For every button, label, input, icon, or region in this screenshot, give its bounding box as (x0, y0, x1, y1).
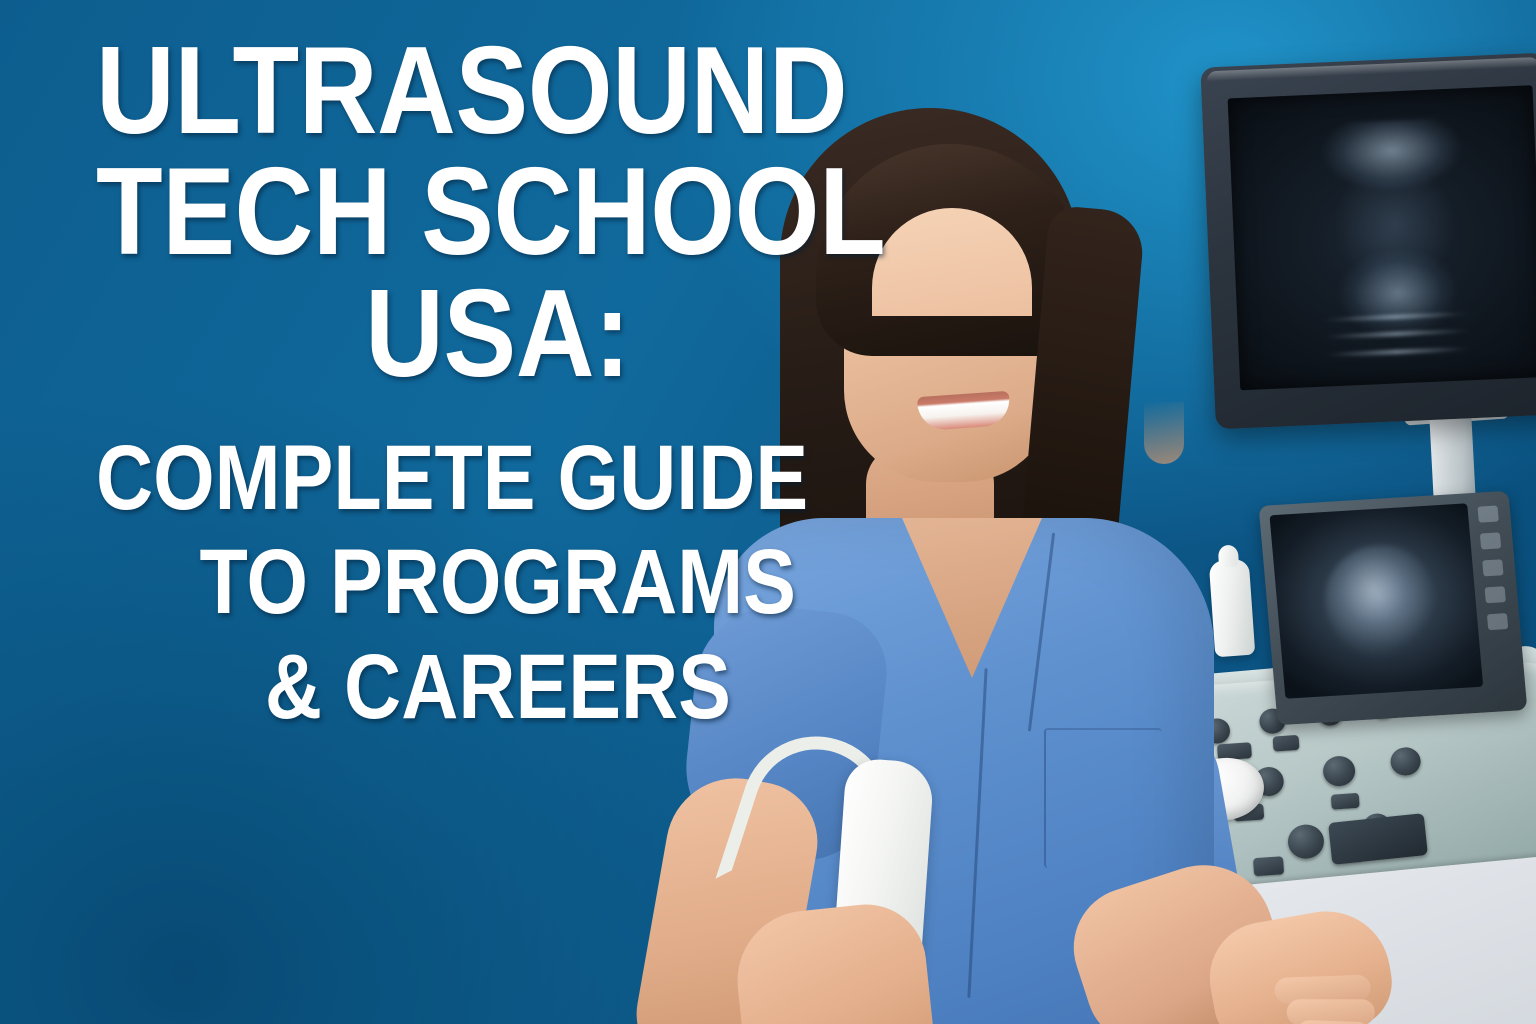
console-knob[interactable] (1322, 755, 1356, 787)
console-button[interactable] (1273, 735, 1300, 752)
side-key-icon[interactable] (1482, 559, 1503, 576)
photo-scene (0, 0, 1536, 1024)
scan-ripple-icon (1324, 346, 1470, 357)
console-touch-screen[interactable] (1259, 491, 1528, 725)
console-knob[interactable] (1287, 823, 1325, 859)
scrubs-seam (967, 668, 987, 998)
console-button[interactable] (1331, 793, 1360, 810)
scrubs-seam (1028, 533, 1055, 732)
ultrasound-scan-image (1320, 542, 1440, 659)
side-key-icon[interactable] (1480, 532, 1501, 549)
scrubs-pocket (1044, 728, 1162, 868)
console-button[interactable] (1253, 856, 1284, 876)
side-key-icon[interactable] (1487, 613, 1508, 630)
side-key-icon[interactable] (1485, 586, 1506, 603)
scrubs-v-neck (902, 518, 1042, 678)
nose (1144, 402, 1184, 464)
ultrasound-monitor (1200, 53, 1536, 430)
ultrasound-monitor-screen (1228, 85, 1536, 390)
side-key-icon[interactable] (1477, 505, 1498, 522)
sonographer-figure (630, 88, 1230, 1024)
console-knob[interactable] (1390, 746, 1422, 776)
poster-canvas: ULTRASOUND TECH SCHOOL USA: COMPLETE GUI… (0, 0, 1536, 1024)
console-touch-screen-display (1269, 503, 1483, 698)
ultrasound-scan-image (1296, 117, 1494, 341)
